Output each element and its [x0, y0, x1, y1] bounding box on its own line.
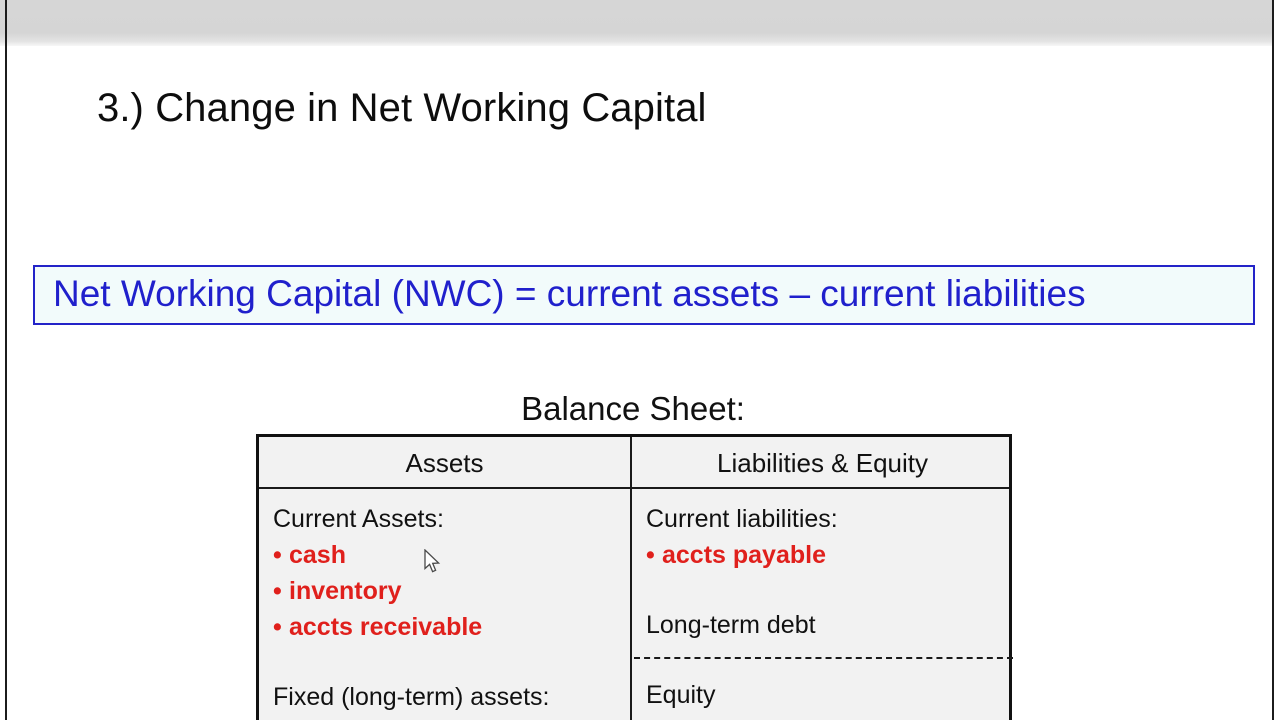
assets-item-cash-label: cash — [289, 541, 346, 569]
balance-sheet-table: Assets Liabilities & Equity Current Asse… — [256, 434, 1012, 720]
equity-dashed-divider — [634, 657, 1013, 659]
balance-sheet-heading: Balance Sheet: — [0, 390, 1266, 428]
slide-title: 3.) Change in Net Working Capital — [97, 84, 707, 132]
assets-item-inventory: •inventory — [273, 573, 630, 609]
assets-section-spacer — [273, 645, 630, 679]
equity-label: Equity — [646, 677, 1013, 713]
liabilities-section-spacer — [646, 573, 1013, 607]
assets-item-net-plant-equipment: •Net plant & equipment — [273, 715, 630, 720]
current-liabilities-heading: Current liabilities: — [646, 501, 1013, 537]
nwc-equation-text: Net Working Capital (NWC) = current asse… — [53, 273, 1086, 315]
table-header-assets: Assets — [259, 437, 630, 489]
current-assets-heading: Current Assets: — [273, 501, 630, 537]
table-body-row: Current Assets: •cash •inventory •accts … — [259, 489, 1009, 720]
bullet-icon: • — [273, 715, 289, 720]
equity-section-spacer — [646, 643, 1013, 677]
liabilities-item-accts-payable: •accts payable — [646, 537, 1013, 573]
long-term-debt-label: Long-term debt — [646, 607, 1013, 643]
nwc-equation-box: Net Working Capital (NWC) = current asse… — [33, 265, 1255, 325]
bullet-icon: • — [646, 537, 662, 573]
assets-item-inventory-label: inventory — [289, 577, 402, 605]
bullet-icon: • — [273, 573, 289, 609]
frame-left-border — [5, 0, 7, 720]
fixed-assets-heading: Fixed (long-term) assets: — [273, 679, 630, 715]
bullet-icon: • — [273, 537, 289, 573]
bullet-icon: • — [273, 609, 289, 645]
slide-viewer: 3.) Change in Net Working Capital Net Wo… — [0, 0, 1280, 720]
assets-cell: Current Assets: •cash •inventory •accts … — [259, 489, 630, 720]
liabilities-equity-cell: Current liabilities: •accts payable Long… — [632, 489, 1013, 713]
window-top-bar — [0, 0, 1280, 46]
liabilities-item-accts-payable-label: accts payable — [662, 541, 826, 569]
table-header-liabilities-equity: Liabilities & Equity — [632, 437, 1013, 489]
frame-right-padding — [1274, 0, 1280, 720]
assets-item-accts-receivable: •accts receivable — [273, 609, 630, 645]
assets-item-accts-receivable-label: accts receivable — [289, 613, 482, 641]
assets-item-cash: •cash — [273, 537, 630, 573]
table-header-row: Assets Liabilities & Equity — [259, 437, 1009, 489]
